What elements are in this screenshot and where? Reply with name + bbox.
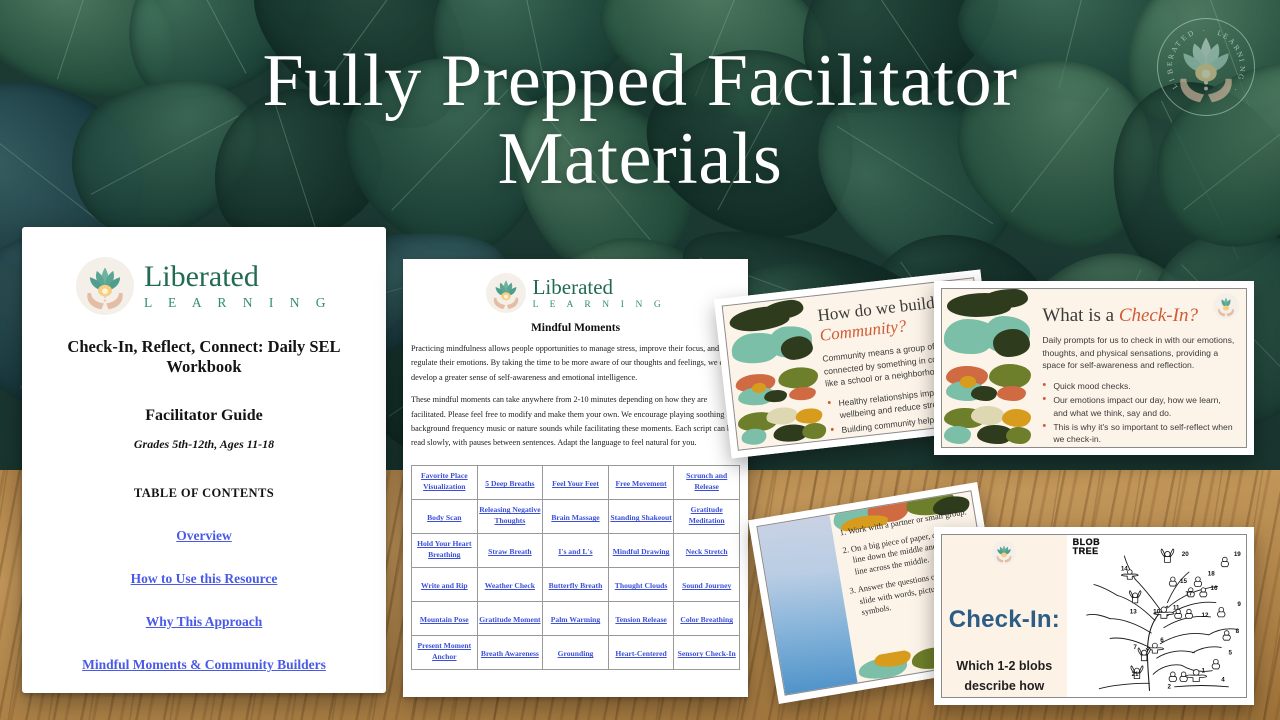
decorative-art-panel	[723, 296, 829, 449]
liberated-learning-watermark-logo: LIBERATED · LEARNING ·	[1157, 18, 1255, 116]
brand-word-top: Liberated	[144, 262, 332, 292]
mindful-moment-link[interactable]: I's and L's	[558, 546, 592, 557]
check-in-question: Which 1-2 blobs describe how you're feel…	[942, 656, 1067, 698]
table-cell: Releasing Negative Thoughts	[477, 499, 543, 533]
tree-branch	[1086, 614, 1109, 618]
slide-content-area: Check-In: Which 1-2 blobs describe how y…	[941, 534, 1247, 698]
lotus-icon	[1213, 293, 1239, 319]
table-cell: Gratitude Moment	[477, 601, 543, 635]
mindful-moment-link[interactable]: Color Breathing	[680, 614, 733, 625]
mindful-moment-link[interactable]: 5 Deep Breaths	[485, 478, 534, 489]
table-cell: Body Scan	[412, 499, 478, 533]
slide-title-accent: Check-In?	[1119, 305, 1198, 326]
mindful-moment-link[interactable]: Thought Clouds	[615, 580, 668, 591]
table-cell: Heart-Centered	[608, 635, 674, 669]
blob-number-label: 6	[1160, 637, 1164, 644]
tree-branch	[1153, 665, 1182, 674]
blob-number-label: 21	[1131, 671, 1138, 678]
blob-number-label: 13	[1129, 608, 1136, 615]
table-cell: Free Movement	[608, 465, 674, 499]
table-cell: Write and Rip	[412, 567, 478, 601]
blob-number-label: 16	[1210, 585, 1217, 592]
table-cell: Weather Check	[477, 567, 543, 601]
mindful-moment-link[interactable]: Mountain Pose	[420, 614, 469, 625]
blob-number-label: 14	[1120, 565, 1127, 572]
mindful-moment-link[interactable]: Write and Rip	[421, 580, 468, 591]
brand-word-bottom: L E A R N I N G	[144, 295, 332, 311]
check-in-heading: Check-In:	[942, 606, 1067, 634]
art-panel-bottom	[942, 404, 1033, 447]
slide-bullet: Quick mood checks.	[1042, 380, 1237, 392]
blob-number-label: 20	[1181, 551, 1188, 558]
blob-figure	[1212, 659, 1219, 669]
table-cell: Mindful Drawing	[608, 533, 674, 567]
mindful-moment-link[interactable]: Straw Breath	[488, 546, 532, 557]
table-row: Write and RipWeather CheckButterfly Brea…	[412, 567, 740, 601]
tree-branch	[1099, 683, 1149, 688]
blob-number-label: 17	[1185, 590, 1192, 597]
toc-link-why-this-approach[interactable]: Why This Approach	[42, 614, 366, 630]
document-brand-logo: Liberated L E A R N I N G	[411, 273, 740, 313]
mindful-moment-link[interactable]: Hold Your Heart Breathing	[413, 538, 476, 560]
table-cell: Tension Release	[608, 601, 674, 635]
page-title-line-1: Fully Prepped Facilitator	[0, 42, 1280, 120]
mindful-moment-link[interactable]: Gratitude Moment	[479, 614, 540, 625]
table-cell: Grounding	[543, 635, 609, 669]
table-cell: Butterfly Breath	[543, 567, 609, 601]
blob-figure	[1169, 577, 1176, 586]
tree-branch	[1156, 651, 1194, 658]
blob-figure	[1194, 577, 1201, 587]
table-row: Favorite Place Visualization5 Deep Breat…	[412, 465, 740, 499]
lotus-logo-mark	[76, 257, 134, 315]
blob-number-label: 7	[1133, 644, 1137, 651]
blob-figure	[1223, 631, 1230, 641]
table-cell: I's and L's	[543, 533, 609, 567]
mindful-moment-link[interactable]: Body Scan	[427, 512, 461, 523]
mindful-moment-link[interactable]: Gratitude Meditation	[675, 504, 738, 526]
mindful-moment-link[interactable]: Neck Stretch	[686, 546, 728, 557]
lotus-icon	[486, 273, 526, 313]
art-panel-top	[942, 289, 1033, 363]
screenshot-stage: Fully Prepped Facilitator Materials LIBE…	[0, 0, 1280, 720]
mindful-moment-link[interactable]: Feel Your Feet	[552, 478, 599, 489]
tree-branch	[1174, 686, 1228, 687]
blob-number-label: 2	[1167, 684, 1171, 691]
mindful-moment-link[interactable]: Tension Release	[615, 614, 666, 625]
slide-bullet: Our emotions impact our day, how we lear…	[1042, 394, 1237, 419]
table-cell: Breath Awareness	[477, 635, 543, 669]
table-cell: Feel Your Feet	[543, 465, 609, 499]
question-line-2: describe how you're	[964, 679, 1044, 698]
mindful-moments-paragraph-1: Practicing mindfulness allows people opp…	[411, 342, 740, 385]
mindful-moment-link[interactable]: Standing Shakeout	[610, 512, 671, 523]
mindful-moment-link[interactable]: Palm Warming	[551, 614, 600, 625]
table-cell: Gratitude Meditation	[674, 499, 740, 533]
tree-branch	[1110, 638, 1149, 647]
blob-figure	[1169, 672, 1176, 682]
slide-paragraph: Daily prompts for us to check in with ou…	[1042, 334, 1237, 372]
blob-number-label: 18	[1207, 571, 1214, 578]
slide-text-block: What is a Check-In? Daily prompts for us…	[1042, 289, 1237, 447]
blob-number-label: 8	[1235, 628, 1239, 635]
workbook-subtitle: Facilitator Guide	[42, 407, 366, 425]
tree-branch	[1160, 633, 1208, 643]
mindful-moment-link[interactable]: Heart-Centered	[615, 648, 666, 659]
tree-branch	[1208, 629, 1237, 635]
brand-word-top: Liberated	[533, 277, 666, 298]
mindful-moment-link[interactable]: Butterfly Breath	[549, 580, 603, 591]
table-cell: Sound Journey	[674, 567, 740, 601]
blob-tree-illustration: BLOB TREE 124567891011121314151617181920…	[1067, 535, 1246, 697]
lotus-icon	[1157, 18, 1255, 116]
slide-title: What is a Check-In?	[1042, 305, 1237, 327]
table-cell: Neck Stretch	[674, 533, 740, 567]
slide-blob-tree-check-in[interactable]: Check-In: Which 1-2 blobs describe how y…	[934, 527, 1254, 705]
brand-word-bottom: L E A R N I N G	[533, 300, 666, 310]
blob-number-label: 11	[1172, 605, 1179, 612]
document-brand-logo: Liberated L E A R N I N G	[42, 257, 366, 315]
blob-figure	[1217, 607, 1224, 617]
table-row: Body ScanReleasing Negative ThoughtsBrai…	[412, 499, 740, 533]
lotus-icon	[76, 257, 134, 315]
toc-link-how-to-use[interactable]: How to Use this Resource	[42, 571, 366, 587]
blob-tree-svg: 12456789101112131415161718192021	[1067, 535, 1246, 697]
blob-figure	[1221, 557, 1228, 567]
mindful-moment-link[interactable]: Sound Journey	[682, 580, 731, 591]
table-cell: Favorite Place Visualization	[412, 465, 478, 499]
mindful-moment-link[interactable]: Present Moment Anchor	[413, 640, 476, 662]
check-in-prompt-panel: Check-In: Which 1-2 blobs describe how y…	[942, 535, 1067, 697]
mindful-moment-link[interactable]: Brain Massage	[551, 512, 599, 523]
table-cell: Straw Breath	[477, 533, 543, 567]
tree-branch	[1110, 619, 1151, 633]
decorative-art-panel	[942, 289, 1033, 447]
slide-title-plain: What is a	[1042, 305, 1119, 326]
workbook-grades: Grades 5th-12th, Ages 11-18	[42, 437, 366, 452]
mindful-moments-paragraph-2: These mindful moments can take anywhere …	[411, 393, 740, 451]
table-cell: Brain Massage	[543, 499, 609, 533]
mindful-moment-link[interactable]: Weather Check	[485, 580, 535, 591]
blob-number-label: 10	[1153, 608, 1160, 615]
lotus-logo-mark	[1213, 293, 1239, 319]
brand-wordmark: Liberated L E A R N I N G	[533, 277, 666, 310]
blob-number-label: 9	[1237, 601, 1241, 608]
blob-number-label: 19	[1233, 551, 1240, 558]
slide-bullet-list: Quick mood checks. Our emotions impact o…	[1042, 380, 1237, 446]
table-cell: Standing Shakeout	[608, 499, 674, 533]
table-cell: Present Moment Anchor	[412, 635, 478, 669]
table-cell: Palm Warming	[543, 601, 609, 635]
mindful-moment-link[interactable]: Releasing Negative Thoughts	[479, 504, 542, 526]
table-cell: Hold Your Heart Breathing	[412, 533, 478, 567]
workbook-title: Check-In, Reflect, Connect: Daily SEL Wo…	[42, 337, 366, 377]
table-row: Mountain PoseGratitude MomentPalm Warmin…	[412, 601, 740, 635]
mindful-moment-link[interactable]: Grounding	[558, 648, 594, 659]
mindful-moment-link[interactable]: Favorite Place Visualization	[413, 470, 476, 492]
table-row: Hold Your Heart BreathingStraw BreathI's…	[412, 533, 740, 567]
page-title-line-2: Materials	[0, 120, 1280, 198]
table-cell: 5 Deep Breaths	[477, 465, 543, 499]
slide-bullet: This is why it's so important to self-re…	[1042, 421, 1237, 446]
blob-number-label: 12	[1201, 612, 1208, 619]
toc-link-overview[interactable]: Overview	[42, 528, 366, 544]
tree-branch	[1192, 647, 1221, 653]
art-panel-top	[723, 296, 821, 373]
mindful-moment-link[interactable]: Mindful Drawing	[613, 546, 670, 557]
page-title: Fully Prepped Facilitator Materials	[0, 42, 1280, 198]
table-cell: Mountain Pose	[412, 601, 478, 635]
blob-number-label: 4	[1221, 676, 1225, 683]
blob-figure	[1185, 609, 1192, 618]
blob-figure	[1199, 588, 1206, 597]
blob-number-label: 1	[1201, 668, 1205, 675]
lotus-icon	[992, 541, 1016, 565]
blob-figure	[1161, 549, 1174, 562]
mindful-moment-link[interactable]: Breath Awareness	[481, 648, 539, 659]
question-line-1: Which 1-2 blobs	[956, 659, 1052, 673]
toc-heading: TABLE OF CONTENTS	[42, 486, 366, 501]
mindful-moment-link[interactable]: Scrunch and Release	[675, 470, 738, 492]
slide-content-area: What is a Check-In? Daily prompts for us…	[941, 288, 1247, 448]
art-panel-middle	[942, 363, 1033, 404]
mindful-moments-table: Favorite Place Visualization5 Deep Breat…	[411, 465, 740, 670]
toc-link-mindful-moments[interactable]: Mindful Moments & Community Builders	[42, 657, 366, 673]
mindful-moment-link[interactable]: Free Movement	[616, 478, 667, 489]
lotus-logo-mark	[992, 541, 1016, 565]
facilitator-guide-document[interactable]: Liberated L E A R N I N G Check-In, Refl…	[22, 227, 386, 693]
blob-number-label: 15	[1180, 578, 1187, 585]
mindful-moment-link[interactable]: Sensory Check-In	[678, 648, 736, 659]
table-cell: Sensory Check-In	[674, 635, 740, 669]
mindful-moments-document[interactable]: Liberated L E A R N I N G Mindful Moment…	[403, 259, 748, 697]
slide-what-is-a-check-in[interactable]: What is a Check-In? Daily prompts for us…	[934, 281, 1254, 455]
blob-figure	[1138, 648, 1150, 661]
lotus-logo-mark	[486, 273, 526, 313]
table-row: Present Moment AnchorBreath AwarenessGro…	[412, 635, 740, 669]
table-cell: Color Breathing	[674, 601, 740, 635]
tree-branch	[1167, 572, 1189, 602]
blob-number-label: 5	[1228, 650, 1232, 657]
table-cell: Scrunch and Release	[674, 465, 740, 499]
mindful-moments-heading: Mindful Moments	[411, 322, 740, 334]
brand-wordmark: Liberated L E A R N I N G	[144, 262, 332, 311]
tree-branch	[1094, 585, 1117, 596]
table-cell: Thought Clouds	[608, 567, 674, 601]
